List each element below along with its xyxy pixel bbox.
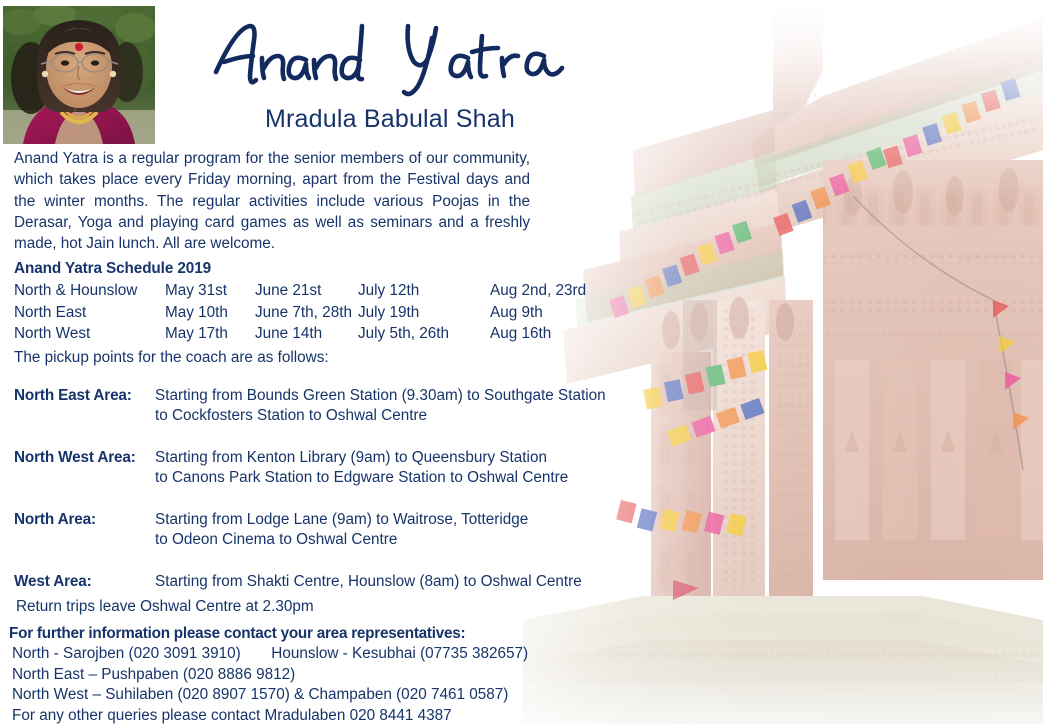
temple-fade-bottom	[523, 604, 1043, 724]
area-description: Starting from Shakti Centre, Hounslow (8…	[155, 572, 614, 592]
schedule-july: July 5th, 26th	[358, 324, 490, 346]
schedule-june: June 14th	[255, 324, 358, 346]
schedule-table: North & Hounslow May 31st June 21st July…	[14, 281, 610, 346]
schedule-july: July 19th	[358, 303, 490, 325]
area-desc-line: to Odeon Cinema to Oshwal Centre	[155, 530, 614, 550]
jain-temple-photo	[523, 0, 1043, 724]
area-description: Starting from Lodge Lane (9am) to Waitro…	[155, 510, 614, 550]
area-label: North West Area:	[14, 448, 155, 488]
contact-heading: For further information please contact y…	[9, 625, 465, 643]
schedule-june: June 7th, 28th	[255, 303, 358, 325]
area-description: Starting from Bounds Green Station (9.30…	[155, 386, 614, 426]
mradula-portrait-photo	[3, 6, 155, 144]
area-desc-line: Starting from Shakti Centre, Hounslow (8…	[155, 572, 614, 592]
area-description: Starting from Kenton Library (9am) to Qu…	[155, 448, 614, 488]
schedule-area: North West	[14, 324, 165, 346]
schedule-july: July 12th	[358, 281, 490, 303]
contact-line-north-west: North West – Suhilaben (020 8907 1570) &…	[12, 685, 528, 706]
intro-paragraph: Anand Yatra is a regular program for the…	[14, 148, 530, 254]
contact-line-other: For any other queries please contact Mra…	[12, 706, 528, 724]
area-desc-line: Starting from Bounds Green Station (9.30…	[155, 386, 614, 406]
pickup-area-north-west: North West Area: Starting from Kenton Li…	[14, 448, 614, 488]
pickup-area-north-east: North East Area: Starting from Bounds Gr…	[14, 386, 614, 426]
pickup-areas: North East Area: Starting from Bounds Gr…	[14, 386, 614, 614]
pickup-area-north: North Area: Starting from Lodge Lane (9a…	[14, 510, 614, 550]
temple-fade-overlay	[523, 0, 1043, 724]
schedule-area: North & Hounslow	[14, 281, 165, 303]
contact-list: North - Sarojben (020 3091 3910) Hounslo…	[12, 644, 528, 724]
area-desc-line: Starting from Lodge Lane (9am) to Waitro…	[155, 510, 614, 530]
area-label: North Area:	[14, 510, 155, 550]
pickup-area-west: West Area: Starting from Shakti Centre, …	[14, 572, 614, 592]
table-row: North East May 10th June 7th, 28th July …	[14, 303, 610, 325]
contact-hounslow: Hounslow - Kesubhai (07735 382657)	[271, 645, 528, 662]
contact-north: North - Sarojben (020 3091 3910)	[12, 645, 241, 662]
area-desc-line: to Canons Park Station to Edgware Statio…	[155, 468, 614, 488]
schedule-may: May 17th	[165, 324, 255, 346]
contact-line-north: North - Sarojben (020 3091 3910) Hounslo…	[12, 644, 528, 665]
page-title-script	[210, 10, 610, 102]
schedule-title: Anand Yatra Schedule 2019	[14, 260, 211, 278]
flyer-page: Mradula Babulal Shah Anand Yatra is a re…	[0, 0, 1043, 724]
pickup-lead-text: The pickup points for the coach are as f…	[14, 349, 329, 367]
area-desc-line: to Cockfosters Station to Oshwal Centre	[155, 406, 614, 426]
schedule-june: June 21st	[255, 281, 358, 303]
page-subtitle: Mradula Babulal Shah	[180, 105, 600, 134]
schedule-may: May 31st	[165, 281, 255, 303]
table-row: North & Hounslow May 31st June 21st July…	[14, 281, 610, 303]
schedule-aug: Aug 2nd, 23rd	[490, 281, 610, 303]
schedule-area: North East	[14, 303, 165, 325]
area-label: West Area:	[14, 572, 155, 592]
schedule-aug: Aug 16th	[490, 324, 610, 346]
schedule-aug: Aug 9th	[490, 303, 610, 325]
schedule-may: May 10th	[165, 303, 255, 325]
area-label: North East Area:	[14, 386, 155, 426]
table-row: North West May 17th June 14th July 5th, …	[14, 324, 610, 346]
area-desc-line: Starting from Kenton Library (9am) to Qu…	[155, 448, 614, 468]
return-trip-note: Return trips leave Oshwal Centre at 2.30…	[16, 598, 314, 616]
contact-line-north-east: North East – Pushpaben (020 8886 9812)	[12, 665, 528, 686]
